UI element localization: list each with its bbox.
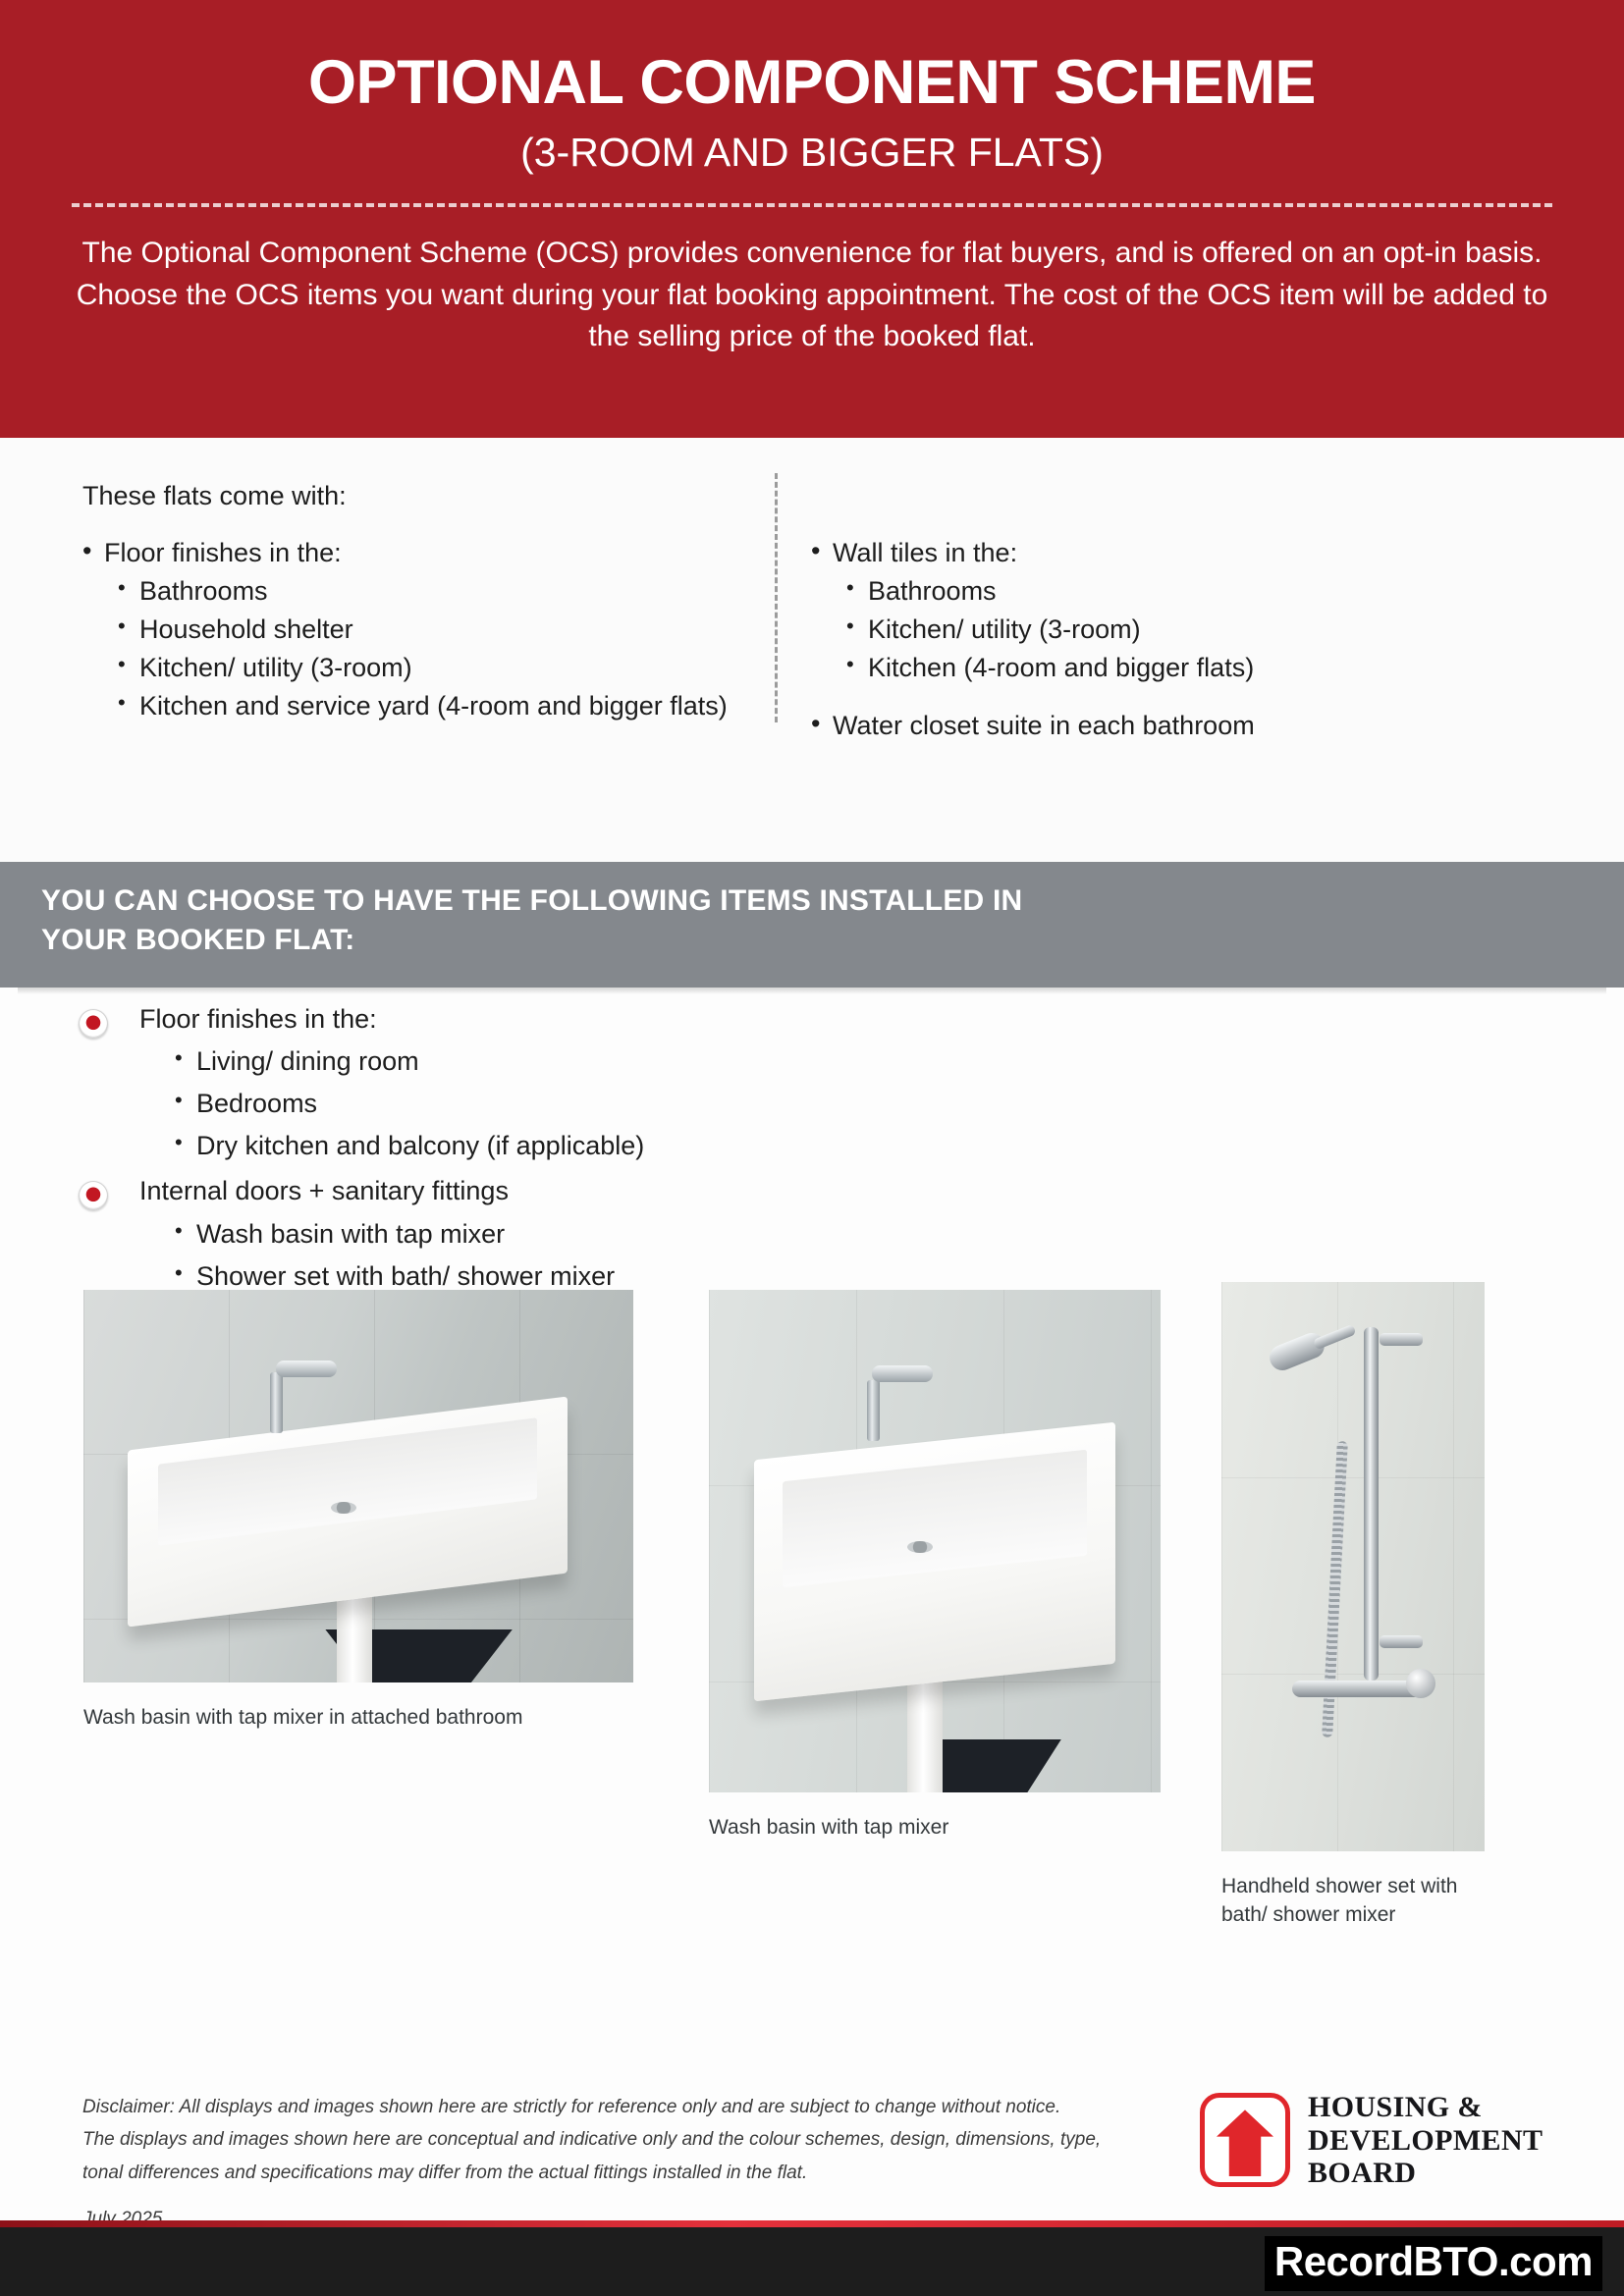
list-item: Bathrooms: [846, 578, 1498, 605]
included-right-list: Bathrooms Kitchen/ utility (3-room) Kitc…: [811, 578, 1498, 681]
riser-bracket-bottom: [1380, 1635, 1423, 1648]
header-dashed-divider: [72, 203, 1552, 207]
included-left-list: Bathrooms Household shelter Kitchen/ uti…: [82, 578, 731, 720]
included-intro: These flats come with:: [82, 481, 347, 511]
red-rule-divider: [0, 2220, 1624, 2227]
page-subtitle: (3-ROOM AND BIGGER FLATS): [520, 130, 1104, 176]
figure-wash-basin-attached-bathroom: Wash basin with tap mixer in attached ba…: [83, 1290, 633, 1731]
disclaimer-line-2: The displays and images shown here are c…: [82, 2123, 1163, 2156]
watermark-label: RecordBTO.com: [1265, 2236, 1602, 2291]
figure-caption-line-2: bath/ shower mixer: [1221, 1901, 1485, 1928]
figure-handheld-shower-set: Handheld shower set with bath/ shower mi…: [1221, 1282, 1485, 1929]
list-item: Bathrooms: [118, 578, 731, 605]
list-item: Kitchen (4-room and bigger flats): [846, 655, 1498, 681]
figure-caption: Wash basin with tap mixer: [709, 1814, 1161, 1841]
basin-drain: [331, 1502, 356, 1514]
banner-line-1: YOU CAN CHOOSE TO HAVE THE FOLLOWING ITE…: [41, 881, 1585, 921]
poster-page: OPTIONAL COMPONENT SCHEME (3-ROOM AND BI…: [0, 0, 1624, 2296]
photo-wash-basin-attached-bathroom: [83, 1290, 633, 1682]
riser-bracket-top: [1380, 1333, 1423, 1346]
list-item: Household shelter: [118, 616, 731, 643]
tap-mixer-spout: [276, 1361, 337, 1377]
list-item: Wash basin with tap mixer: [175, 1219, 1624, 1250]
tap-mixer-spout: [872, 1365, 933, 1382]
photo-handheld-shower-set: [1221, 1282, 1485, 1851]
included-left-heading: Floor finishes in the:: [82, 536, 731, 570]
disclaimer-text: Disclaimer: All displays and images show…: [82, 2091, 1163, 2189]
choice-sublist: Wash basin with tap mixer Shower set wit…: [139, 1219, 1624, 1292]
figure-wash-basin: Wash basin with tap mixer: [709, 1290, 1161, 1841]
hdb-logo-line-3: BOARD: [1308, 2157, 1543, 2190]
hdb-logo-text: HOUSING & DEVELOPMENT BOARD: [1308, 2091, 1543, 2190]
photo-wash-basin: [709, 1290, 1161, 1792]
bathroom-tile-backdrop: [1221, 1282, 1485, 1851]
radio-bullet-icon: [79, 1009, 108, 1039]
included-left-column: Floor finishes in the: Bathrooms Househo…: [82, 536, 731, 731]
list-item: Dry kitchen and balcony (if applicable): [175, 1131, 1624, 1161]
basin-pedestal: [337, 1594, 372, 1682]
list-item: Bedrooms: [175, 1089, 1624, 1119]
banner-line-2: YOUR BOOKED FLAT:: [41, 921, 1585, 960]
disclaimer-line-3: tonal differences and specifications may…: [82, 2157, 1163, 2189]
mixer-knob: [1406, 1669, 1435, 1698]
shower-riser-rail: [1364, 1327, 1379, 1681]
list-item: Kitchen/ utility (3-room): [118, 655, 731, 681]
banner-drop-shadow: [18, 988, 1606, 994]
included-right-heading: Wall tiles in the:: [811, 536, 1498, 570]
included-items-section: These flats come with: Floor finishes in…: [0, 438, 1624, 862]
list-item: Kitchen/ utility (3-room): [846, 616, 1498, 643]
included-right-column: Wall tiles in the: Bathrooms Kitchen/ ut…: [811, 536, 1498, 741]
red-header-banner: OPTIONAL COMPONENT SCHEME (3-ROOM AND BI…: [0, 0, 1624, 438]
tap-mixer-stem: [270, 1372, 283, 1433]
optional-choices-list: Floor finishes in the: Living/ dining ro…: [0, 1003, 1624, 1306]
hdb-logo-line-1: HOUSING &: [1308, 2091, 1543, 2124]
choice-title: Internal doors + sanitary fittings: [139, 1175, 1624, 1206]
list-item: Kitchen and service yard (4-room and big…: [118, 693, 731, 720]
list-item: Living/ dining room: [175, 1046, 1624, 1077]
page-title: OPTIONAL COMPONENT SCHEME: [308, 51, 1316, 114]
choice-group-floor-finishes: Floor finishes in the: Living/ dining ro…: [0, 1003, 1624, 1161]
figure-caption: Wash basin with tap mixer in attached ba…: [83, 1704, 633, 1731]
hdb-logo: HOUSING & DEVELOPMENT BOARD: [1200, 2091, 1543, 2190]
radio-bullet-icon: [79, 1181, 108, 1210]
vertical-dashed-divider: [775, 473, 778, 722]
figure-caption-line-1: Handheld shower set with: [1221, 1873, 1485, 1899]
wash-basin-shape: [754, 1421, 1115, 1700]
disclaimer-line-1: Disclaimer: All displays and images show…: [82, 2091, 1163, 2123]
hdb-house-arrow-icon: [1200, 2093, 1290, 2187]
header-description: The Optional Component Scheme (OCS) prov…: [76, 233, 1548, 358]
arrow-up-icon: [1217, 2109, 1273, 2176]
included-water-closet-item: Water closet suite in each bathroom: [811, 711, 1498, 741]
hdb-logo-line-2: DEVELOPMENT: [1308, 2124, 1543, 2158]
grey-banner: YOU CAN CHOOSE TO HAVE THE FOLLOWING ITE…: [0, 862, 1624, 988]
tap-mixer-stem: [867, 1380, 880, 1441]
choice-title: Floor finishes in the:: [139, 1003, 1624, 1035]
choice-sublist: Living/ dining room Bedrooms Dry kitchen…: [139, 1046, 1624, 1161]
choice-group-doors-sanitary: Internal doors + sanitary fittings Wash …: [0, 1175, 1624, 1291]
